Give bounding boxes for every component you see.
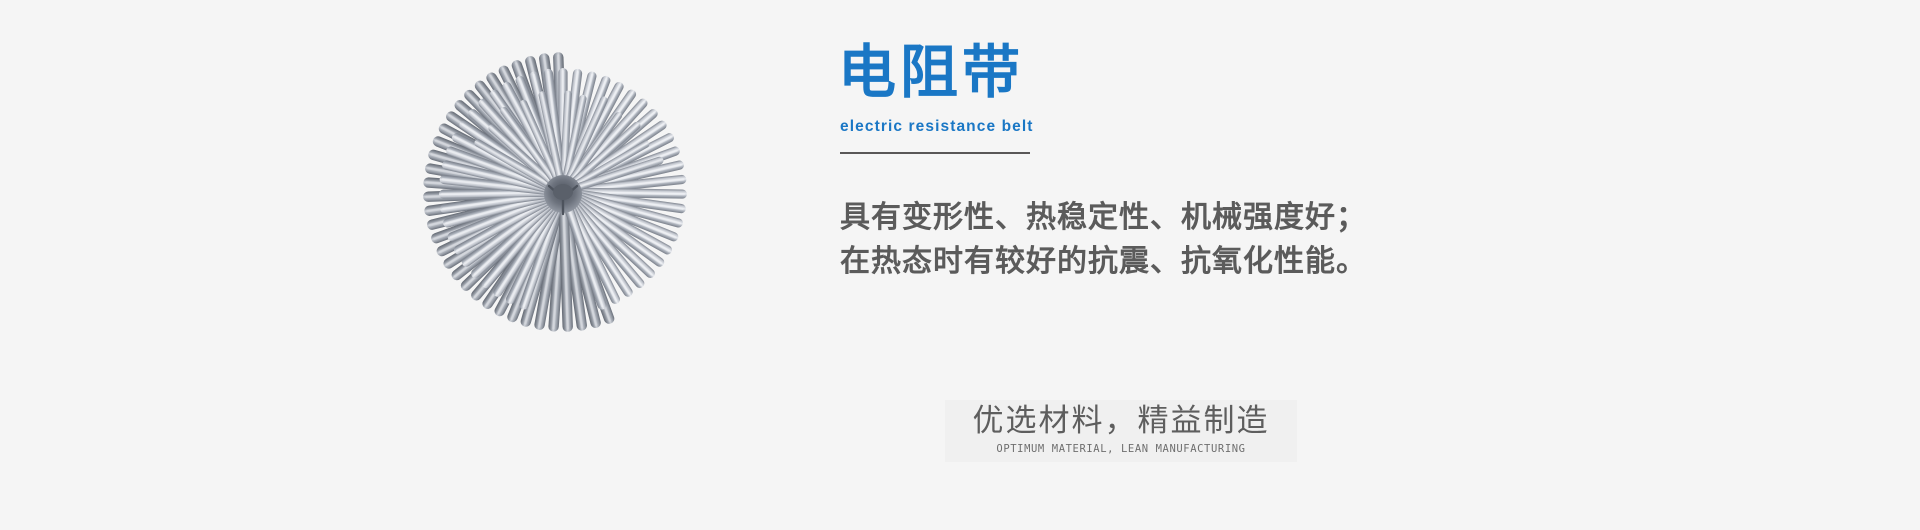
- description-line-1: 具有变形性、热稳定性、机械强度好；: [840, 196, 1598, 240]
- product-image: [355, 42, 775, 432]
- resistance-belt-starburst-icon: [355, 42, 775, 432]
- title-divider: [840, 152, 1030, 154]
- product-banner: 电阻带 electric resistance belt 具有变形性、热稳定性、…: [0, 0, 1920, 530]
- slogan-english: OPTIMUM MATERIAL, LEAN MANUFACTURING: [951, 442, 1291, 456]
- description-block: 具有变形性、热稳定性、机械强度好； 在热态时有较好的抗震、抗氧化性能。: [840, 196, 1598, 284]
- description-line-2: 在热态时有较好的抗震、抗氧化性能。: [840, 240, 1598, 284]
- page-title: 电阻带: [838, 40, 1598, 104]
- page-subtitle: electric resistance belt: [840, 118, 1598, 136]
- slogan-chinese: 优选材料，精益制造: [951, 402, 1291, 440]
- slogan-watermark: 优选材料，精益制造 OPTIMUM MATERIAL, LEAN MANUFAC…: [945, 400, 1297, 462]
